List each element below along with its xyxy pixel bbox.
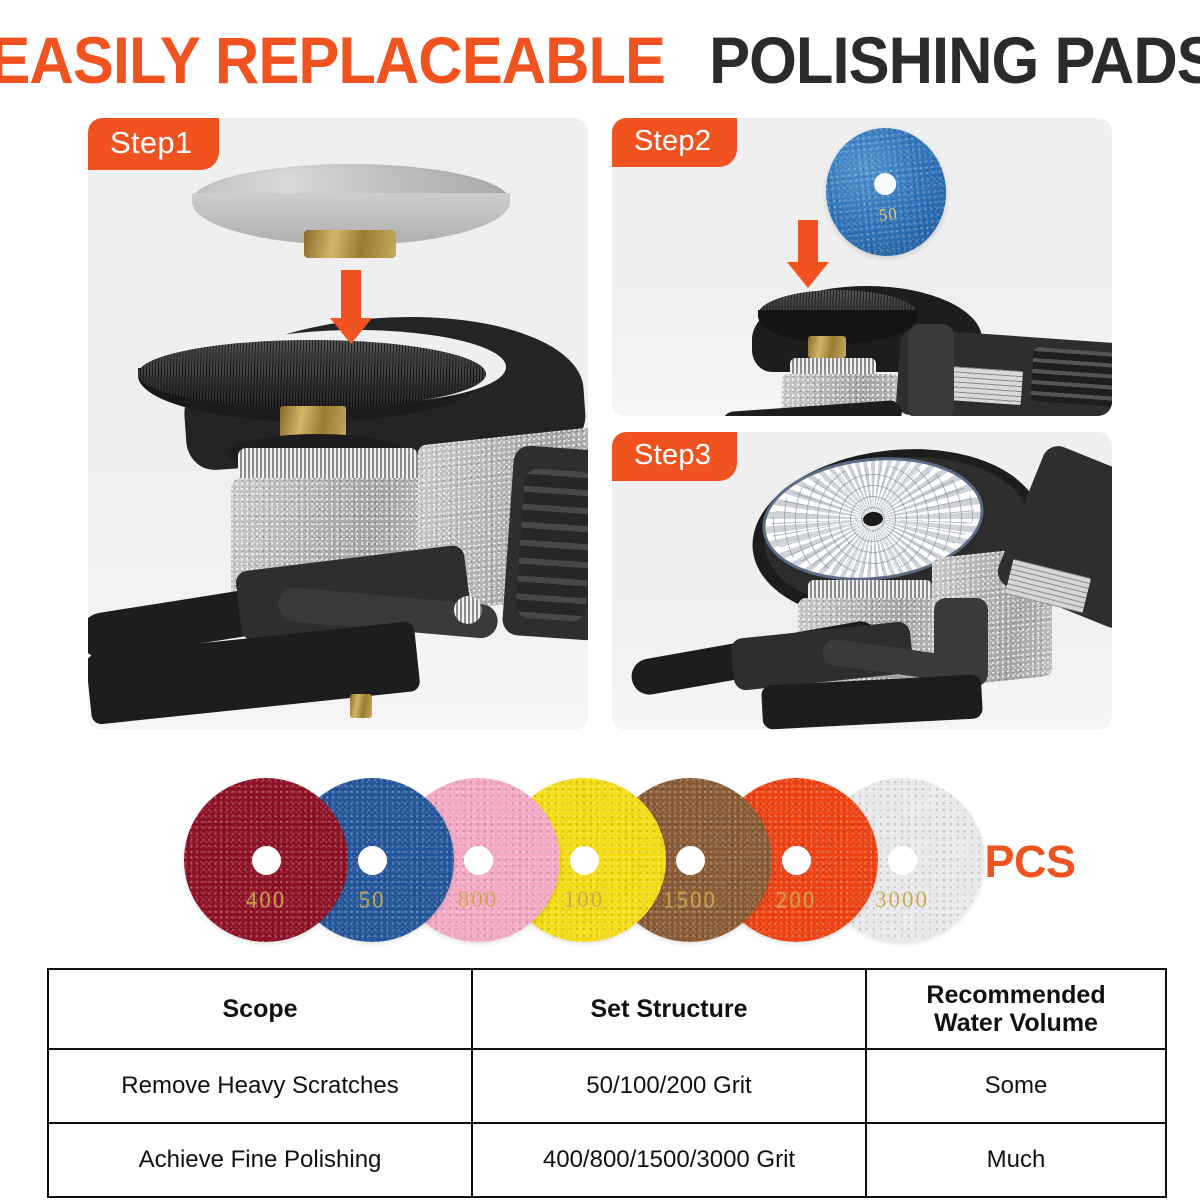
backing-pad-hub bbox=[304, 230, 396, 258]
page-title: EASILY REPLACEABLE POLISHING PADS bbox=[0, 24, 1200, 96]
water-inlet bbox=[350, 694, 372, 718]
pad-grit-label: 400 bbox=[184, 887, 348, 913]
step3-panel: Step3 bbox=[612, 432, 1112, 730]
title-rest: POLISHING PADS bbox=[709, 27, 1200, 93]
cell-structure: 50/100/200 Grit bbox=[472, 1049, 866, 1123]
header-water-volume-line1: Recommended bbox=[926, 981, 1105, 1009]
header-water-volume: Recommended Water Volume bbox=[866, 969, 1166, 1049]
table-row: Achieve Fine Polishing 400/800/1500/3000… bbox=[48, 1123, 1166, 1197]
table-head: Scope Set Structure Recommended Water Vo… bbox=[48, 969, 1166, 1049]
pad-grain bbox=[184, 778, 348, 942]
step2-panel: 50 Step2 bbox=[612, 118, 1112, 416]
pad-400: 400 bbox=[184, 778, 348, 942]
table-body: Remove Heavy Scratches 50/100/200 Grit S… bbox=[48, 1049, 1166, 1197]
step3-badge: Step3 bbox=[612, 432, 737, 481]
header-set-structure: Set Structure bbox=[472, 969, 866, 1049]
title-highlight: EASILY REPLACEABLE bbox=[0, 27, 665, 93]
grip-ribs bbox=[515, 468, 588, 623]
cell-water: Much bbox=[866, 1123, 1166, 1197]
spindle-brass-hub bbox=[808, 336, 846, 358]
motor-vents bbox=[1030, 347, 1112, 407]
cell-structure: 400/800/1500/3000 Grit bbox=[472, 1123, 866, 1197]
cell-scope: Achieve Fine Polishing bbox=[48, 1123, 472, 1197]
step1-badge: Step1 bbox=[88, 118, 219, 170]
step2-badge: Step2 bbox=[612, 118, 737, 167]
table-row: Remove Heavy Scratches 50/100/200 Grit S… bbox=[48, 1049, 1166, 1123]
spec-table: Scope Set Structure Recommended Water Vo… bbox=[47, 968, 1167, 1198]
header-scope: Scope bbox=[48, 969, 472, 1049]
velcro-backer-plate-front bbox=[138, 340, 486, 408]
table-header-row: Scope Set Structure Recommended Water Vo… bbox=[48, 969, 1166, 1049]
handle-bolt bbox=[454, 596, 482, 624]
cell-scope: Remove Heavy Scratches bbox=[48, 1049, 472, 1123]
assembly-arrow-icon bbox=[787, 220, 829, 288]
step1-illustration bbox=[88, 118, 588, 730]
step1-panel: Step1 bbox=[88, 118, 588, 730]
assembly-arrow-icon bbox=[330, 270, 372, 344]
cell-water: Some bbox=[866, 1049, 1166, 1123]
blue-50-grit-pad: 50 bbox=[820, 122, 953, 262]
header-water-volume-line2: Water Volume bbox=[934, 1009, 1098, 1037]
side-handle-grip bbox=[908, 324, 954, 416]
